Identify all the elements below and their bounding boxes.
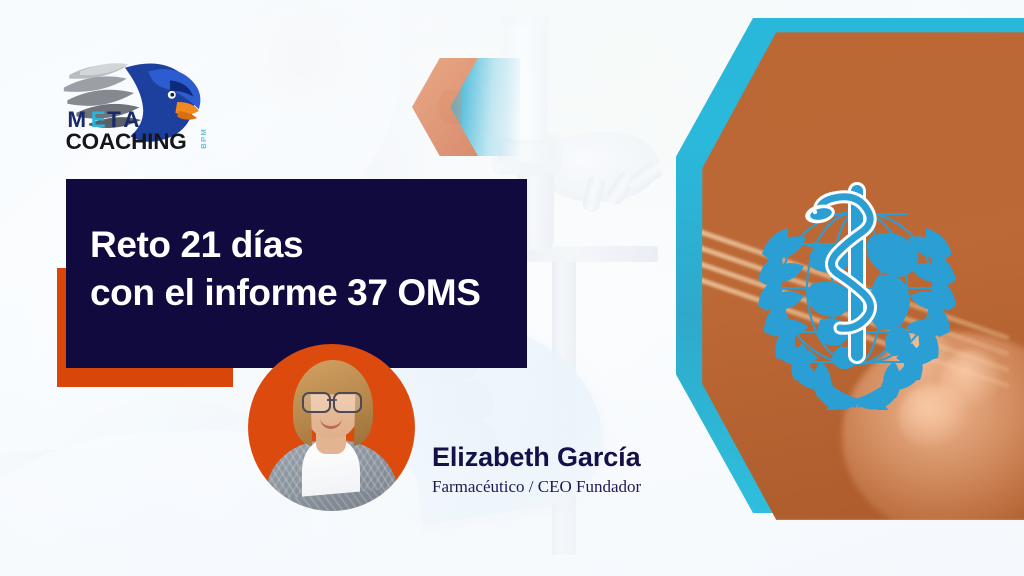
slide-canvas: Reto 21 días con el informe 37 OMS Eliza…: [0, 0, 1024, 576]
presenter-role: Farmacéutico / CEO Fundador: [432, 477, 641, 497]
glasses-lens-left: [302, 392, 331, 413]
svg-text:BPM: BPM: [199, 128, 208, 149]
svg-text:COACHING: COACHING: [66, 129, 187, 153]
title-card: Reto 21 días con el informe 37 OMS: [66, 179, 527, 368]
page-title: Reto 21 días con el informe 37 OMS: [90, 221, 480, 317]
avatar: [248, 344, 415, 511]
glasses-lens-right: [333, 392, 362, 413]
presenter-name: Elizabeth García: [432, 442, 640, 473]
meta-coaching-logo: M E T A COACHING BPM: [62, 48, 242, 153]
who-oms-emblem: [742, 180, 972, 410]
glasses-icon: [302, 392, 362, 409]
